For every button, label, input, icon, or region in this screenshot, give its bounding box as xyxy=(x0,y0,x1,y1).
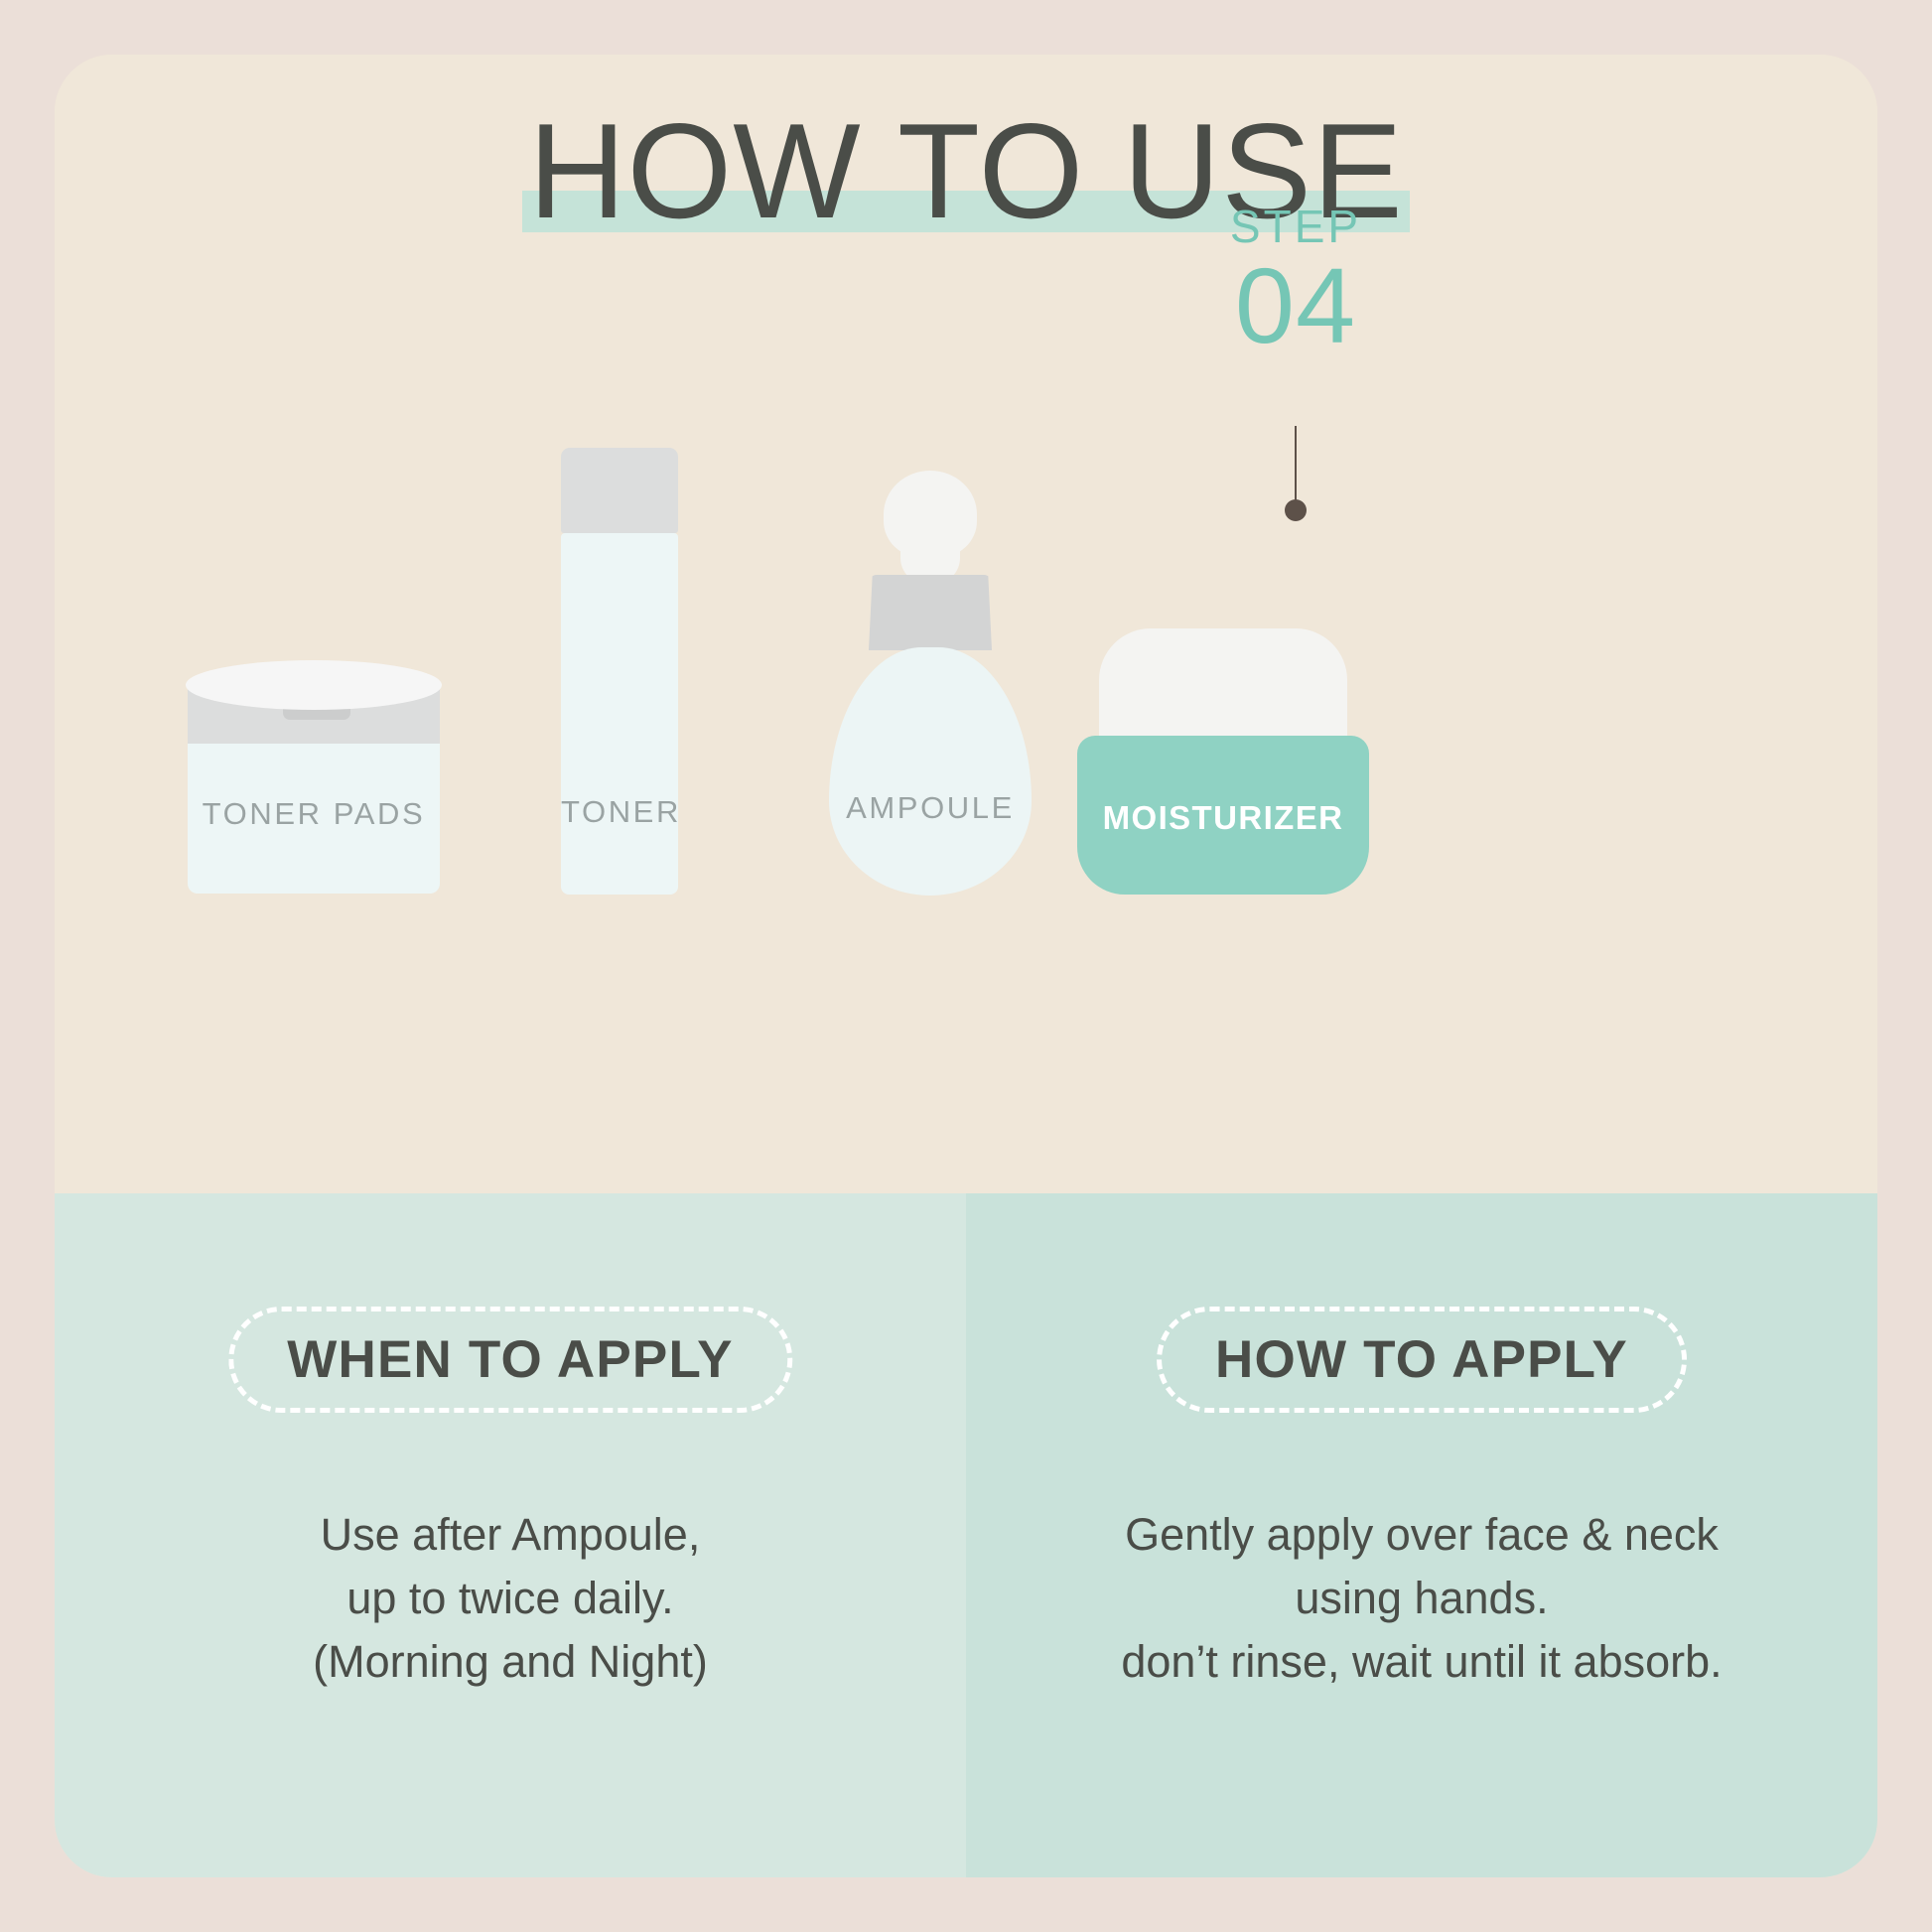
product-moisturizer: MOISTURIZER xyxy=(1077,628,1369,895)
product-ampoule: AMPOULE xyxy=(821,471,1039,896)
panel-when-to-apply: WHEN TO APPLY Use after Ampoule, up to t… xyxy=(55,1193,966,1877)
ampoule-bottle-body xyxy=(829,647,1032,896)
toner-pads-jar-lid xyxy=(186,660,442,710)
product-row: TONER PADS TONER AMPOULE MOISTURIZER xyxy=(55,55,1877,1193)
how-to-apply-badge-text: HOW TO APPLY xyxy=(1215,1333,1628,1386)
how-to-apply-line-1: Gently apply over face & neck xyxy=(966,1503,1877,1567)
how-to-apply-line-2: using hands. xyxy=(966,1567,1877,1630)
when-to-apply-body: Use after Ampoule, up to twice daily. (M… xyxy=(55,1503,966,1694)
ampoule-collar xyxy=(869,575,992,650)
toner-bottle-cap xyxy=(561,448,678,533)
product-toner: TONER xyxy=(561,448,678,895)
moisturizer-label: MOISTURIZER xyxy=(1077,799,1369,837)
when-to-apply-line-1: Use after Ampoule, xyxy=(55,1503,966,1567)
ampoule-label: AMPOULE xyxy=(821,790,1039,826)
how-to-apply-badge: HOW TO APPLY xyxy=(1157,1307,1687,1413)
toner-bottle-body xyxy=(561,533,678,895)
instruction-panels: WHEN TO APPLY Use after Ampoule, up to t… xyxy=(55,1193,1877,1877)
when-to-apply-badge: WHEN TO APPLY xyxy=(228,1307,792,1413)
when-to-apply-line-3: (Morning and Night) xyxy=(55,1630,966,1694)
how-to-apply-line-3: don’t rinse, wait until it absorb. xyxy=(966,1630,1877,1694)
how-to-apply-body: Gently apply over face & neck using hand… xyxy=(966,1503,1877,1694)
toner-label: TONER xyxy=(561,794,678,830)
panel-how-to-apply: HOW TO APPLY Gently apply over face & ne… xyxy=(966,1193,1877,1877)
product-stage: HOW TO USE STEP 04 TONER PADS TONER xyxy=(55,55,1877,1193)
when-to-apply-line-2: up to twice daily. xyxy=(55,1567,966,1630)
infographic-card: HOW TO USE STEP 04 TONER PADS TONER xyxy=(55,55,1877,1877)
toner-pads-label: TONER PADS xyxy=(188,796,440,832)
when-to-apply-badge-text: WHEN TO APPLY xyxy=(287,1333,734,1386)
product-toner-pads: TONER PADS xyxy=(188,650,440,894)
